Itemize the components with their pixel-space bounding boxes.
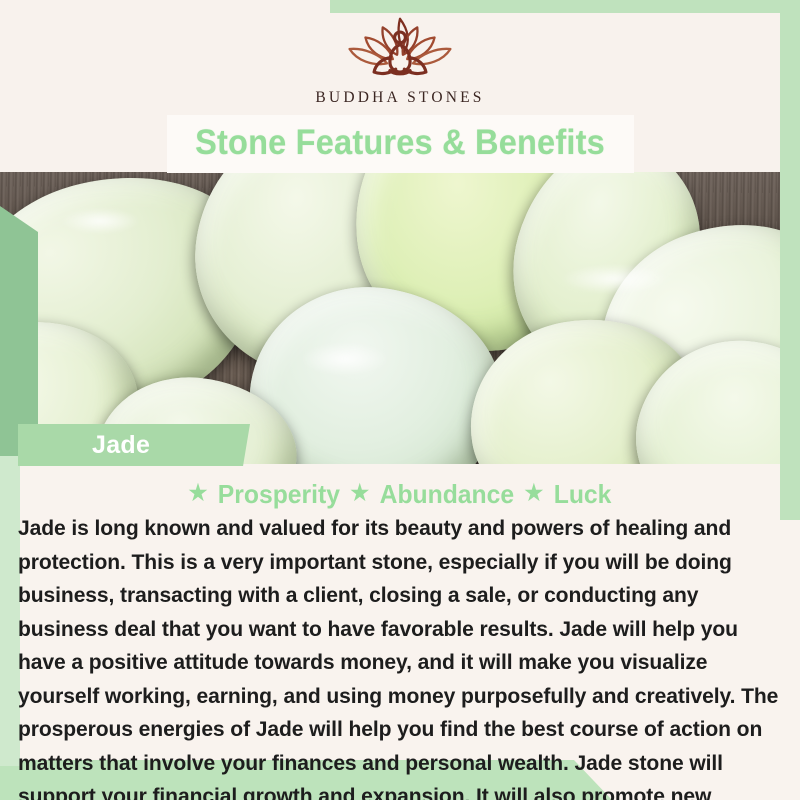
infographic-page: BUDDHA STONES Stone Features & Benefits …	[0, 0, 800, 800]
star-icon: ★	[525, 482, 544, 504]
frame-accent-left	[0, 206, 38, 456]
benefits-row: ★ Prosperity ★ Abundance ★ Luck	[20, 478, 780, 510]
stone-highlight	[560, 264, 670, 294]
benefit-abundance: Abundance	[380, 479, 514, 510]
stone-name-label: Jade	[92, 424, 150, 466]
frame-accent-left-strip	[0, 456, 20, 766]
stone-description: Jade is long known and valued for its be…	[18, 512, 779, 800]
benefit-prosperity: Prosperity	[218, 479, 340, 510]
benefit-luck: Luck	[554, 479, 612, 510]
star-icon: ★	[350, 482, 369, 504]
stone-highlight	[60, 208, 140, 234]
star-icon: ★	[189, 482, 208, 504]
stone-highlight	[300, 342, 390, 376]
page-title: Stone Features & Benefits	[28, 113, 772, 173]
brand-header: BUDDHA STONES	[0, 0, 800, 120]
jade-stones-photo	[0, 172, 800, 464]
brand-name: BUDDHA STONES	[315, 89, 484, 107]
lotus-meditation-icon	[325, 13, 475, 85]
